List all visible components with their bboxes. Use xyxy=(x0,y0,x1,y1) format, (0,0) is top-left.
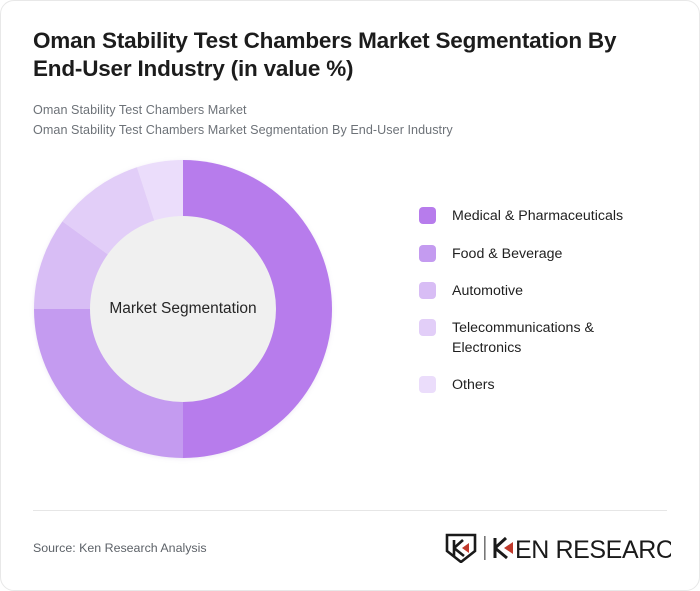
legend-label: Others xyxy=(452,375,495,395)
footer-divider xyxy=(33,510,667,511)
subtitle-secondary: Oman Stability Test Chambers Market Segm… xyxy=(33,120,667,140)
chart-header: Oman Stability Test Chambers Market Segm… xyxy=(1,1,699,140)
legend-item[interactable]: Telecommunications & Electronics xyxy=(419,318,669,358)
chart-body: Market Segmentation Medical & Pharmaceut… xyxy=(1,148,699,478)
legend-item[interactable]: Others xyxy=(419,375,669,395)
legend-label: Telecommunications & Electronics xyxy=(452,318,652,358)
page-title: Oman Stability Test Chambers Market Segm… xyxy=(33,27,658,84)
logo-wordmark-k xyxy=(495,538,513,558)
logo-text: EN RESEARCH xyxy=(515,536,671,563)
logo-divider xyxy=(484,536,486,560)
legend-swatch-icon xyxy=(419,207,436,224)
legend-label: Food & Beverage xyxy=(452,244,562,264)
logo-svg: EN RESEARCH xyxy=(443,533,671,563)
legend-swatch-icon xyxy=(419,282,436,299)
logo-shield-icon xyxy=(447,535,475,562)
legend-swatch-icon xyxy=(419,319,436,336)
legend-swatch-icon xyxy=(419,245,436,262)
chart-footer: Source: Ken Research Analysis EN RES xyxy=(33,531,671,565)
donut-chart: Market Segmentation xyxy=(34,160,332,458)
chart-card: Oman Stability Test Chambers Market Segm… xyxy=(0,0,700,591)
ken-research-logo: EN RESEARCH xyxy=(443,533,671,563)
subtitle-group: Oman Stability Test Chambers Market Oman… xyxy=(33,100,667,141)
donut-hole xyxy=(90,216,276,402)
legend-label: Automotive xyxy=(452,281,523,301)
legend-item[interactable]: Automotive xyxy=(419,281,669,301)
chart-legend: Medical & PharmaceuticalsFood & Beverage… xyxy=(419,206,669,412)
subtitle-primary: Oman Stability Test Chambers Market xyxy=(33,100,667,120)
legend-swatch-icon xyxy=(419,376,436,393)
source-note: Source: Ken Research Analysis xyxy=(33,541,207,555)
donut-svg xyxy=(34,160,332,458)
legend-item[interactable]: Medical & Pharmaceuticals xyxy=(419,206,669,226)
legend-label: Medical & Pharmaceuticals xyxy=(452,206,623,226)
legend-item[interactable]: Food & Beverage xyxy=(419,244,669,264)
